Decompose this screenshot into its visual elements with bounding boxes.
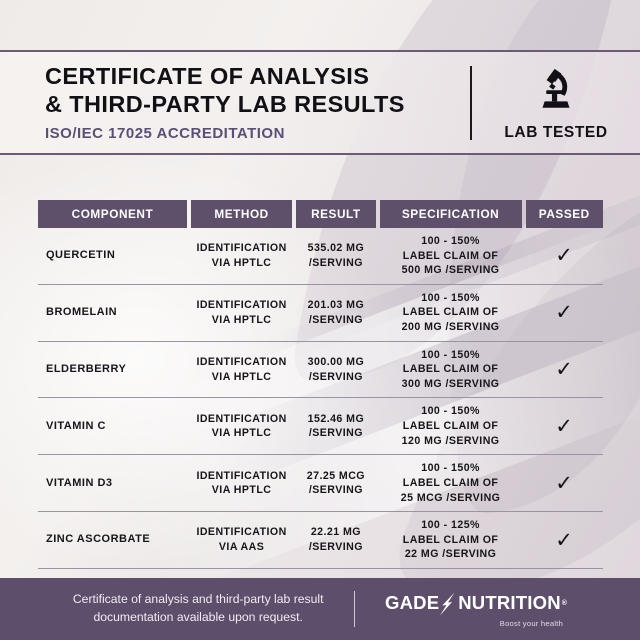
header-title-group: CERTIFICATE OF ANALYSIS & THIRD-PARTY LA… [0,63,470,141]
cell-passed: ✓ [526,473,603,494]
swoosh-icon [437,591,459,617]
table-row: ZINC ASCORBATEIDENTIFICATIONVIA AAS22.21… [38,512,603,569]
table-row: VITAMIN D3IDENTIFICATIONVIA HPTLC27.25 M… [38,455,603,512]
cell-result: 535.02 MG/SERVING [296,241,375,270]
cell-method: IDENTIFICATIONVIA HPTLC [191,241,292,270]
footer-band: Certificate of analysis and third-party … [0,578,640,640]
table-row: VITAMIN CIDENTIFICATIONVIA HPTLC152.46 M… [38,398,603,455]
column-header-passed: PASSED [526,200,603,228]
lab-tested-label: LAB TESTED [504,124,607,142]
column-header-component: COMPONENT [38,200,187,228]
cell-result: 300.00 MG/SERVING [296,355,375,384]
cell-component: BROMELAIN [38,305,187,320]
cell-passed: ✓ [526,302,603,323]
column-header-method: METHOD [191,200,292,228]
cell-specification: 100 - 150%LABEL CLAIM OF200 MG /SERVING [380,291,522,335]
cell-passed: ✓ [526,416,603,437]
cell-method: IDENTIFICATIONVIA HPTLC [191,469,292,498]
lab-tested-badge: LAB TESTED [472,63,640,142]
cell-result: 201.03 MG/SERVING [296,298,375,327]
registered-trademark-icon: ® [562,600,567,607]
page-title-line-1: CERTIFICATE OF ANALYSIS [45,63,470,91]
certificate-page: CERTIFICATE OF ANALYSIS & THIRD-PARTY LA… [0,0,640,640]
cell-method: IDENTIFICATIONVIA HPTLC [191,355,292,384]
column-header-specification: SPECIFICATION [380,200,522,228]
cell-passed: ✓ [526,530,603,551]
cell-specification: 100 - 150%LABEL CLAIM OF500 MG /SERVING [380,234,522,278]
header-band: CERTIFICATE OF ANALYSIS & THIRD-PARTY LA… [0,50,640,155]
footer-vertical-divider [354,591,356,627]
table-header-row: COMPONENT METHOD RESULT SPECIFICATION PA… [38,200,603,228]
column-header-result: RESULT [296,200,375,228]
table-body: QUERCETINIDENTIFICATIONVIA HPTLC535.02 M… [38,228,603,569]
brand-logo-primary: GADE [385,594,439,613]
cell-result: 152.46 MG/SERVING [296,412,375,441]
footer-note: Certificate of analysis and third-party … [73,591,324,626]
cell-method: IDENTIFICATIONVIA HPTLC [191,298,292,327]
microscope-icon [529,63,583,120]
brand-tagline: Boost your health [500,620,563,628]
cell-method: IDENTIFICATIONVIA AAS [191,525,292,554]
cell-passed: ✓ [526,245,603,266]
table-row: BROMELAINIDENTIFICATIONVIA HPTLC201.03 M… [38,285,603,342]
cell-specification: 100 - 150%LABEL CLAIM OF25 MCG /SERVING [380,461,522,505]
table-row: QUERCETINIDENTIFICATIONVIA HPTLC535.02 M… [38,228,603,285]
table-row: ELDERBERRYIDENTIFICATIONVIA HPTLC300.00 … [38,342,603,399]
cell-passed: ✓ [526,359,603,380]
page-title-line-2: & THIRD-PARTY LAB RESULTS [45,91,470,119]
cell-component: VITAMIN C [38,419,187,434]
cell-component: QUERCETIN [38,248,187,263]
cell-result: 27.25 MCG/SERVING [296,469,375,498]
cell-method: IDENTIFICATIONVIA HPTLC [191,412,292,441]
cell-component: VITAMIN D3 [38,476,187,491]
cell-specification: 100 - 150%LABEL CLAIM OF120 MG /SERVING [380,404,522,448]
brand-logo-wordmark: GADE NUTRITION ® [385,591,567,617]
brand-logo: GADE NUTRITION ® Boost your health [385,591,567,628]
cell-specification: 100 - 150%LABEL CLAIM OF300 MG /SERVING [380,348,522,392]
cell-specification: 100 - 125%LABEL CLAIM OF22 MG /SERVING [380,518,522,562]
brand-logo-secondary: NUTRITION [458,594,561,613]
cell-result: 22.21 MG/SERVING [296,525,375,554]
cell-component: ZINC ASCORBATE [38,532,187,547]
accreditation-subtitle: ISO/IEC 17025 ACCREDITATION [45,125,470,142]
cell-component: ELDERBERRY [38,362,187,377]
results-table: COMPONENT METHOD RESULT SPECIFICATION PA… [38,200,603,569]
